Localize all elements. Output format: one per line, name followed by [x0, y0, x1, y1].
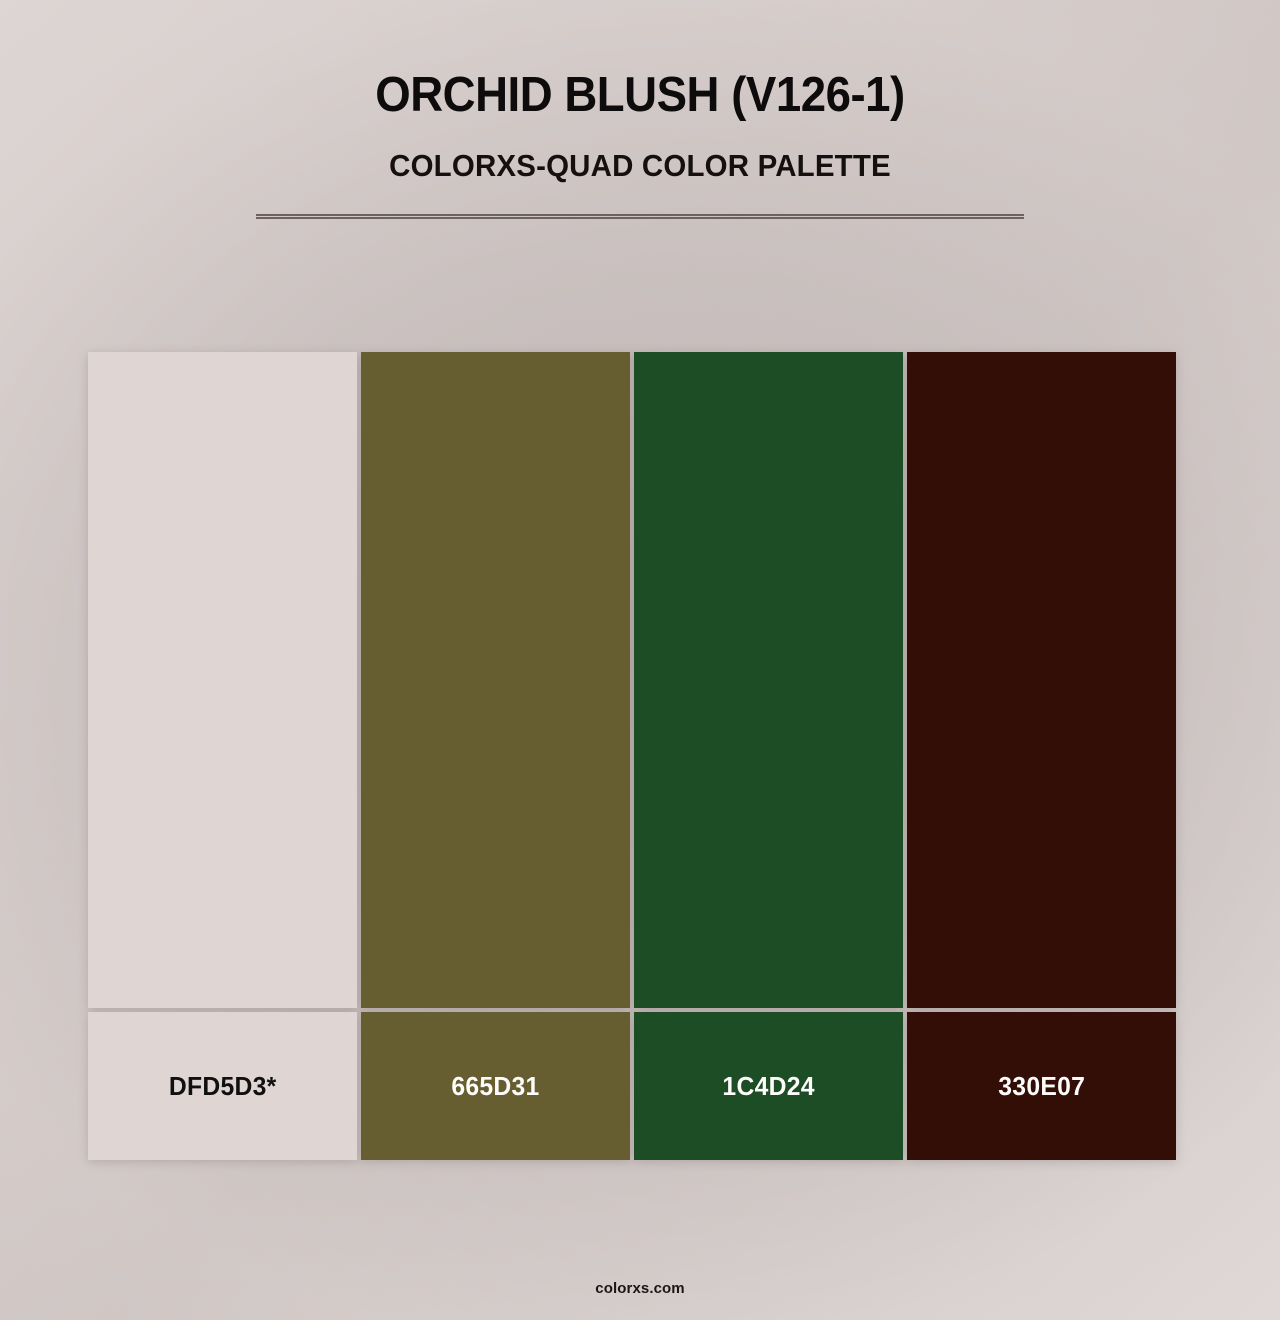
swatch-color-row — [88, 352, 1176, 1008]
hex-code-label: 665D31 — [451, 1071, 539, 1102]
swatch-330e07[interactable] — [907, 352, 1176, 1008]
hex-code-label: 1C4D24 — [722, 1071, 814, 1102]
swatch-label-330e07[interactable]: 330E07 — [907, 1012, 1176, 1160]
hex-code-label: DFD5D3* — [169, 1071, 277, 1102]
color-palette: DFD5D3* 665D31 1C4D24 330E07 — [88, 352, 1176, 1160]
page-subtitle: COLORXS-QUAD COLOR PALETTE — [32, 150, 1248, 183]
swatch-1c4d24[interactable] — [634, 352, 903, 1008]
page-header: ORCHID BLUSH (V126-1) COLORXS-QUAD COLOR… — [0, 0, 1280, 219]
page-title: ORCHID BLUSH (V126-1) — [45, 70, 1235, 121]
swatch-label-dfd5d3[interactable]: DFD5D3* — [88, 1012, 357, 1160]
hex-code-label: 330E07 — [998, 1071, 1085, 1102]
swatch-665d31[interactable] — [361, 352, 630, 1008]
swatch-label-665d31[interactable]: 665D31 — [361, 1012, 630, 1160]
swatch-label-row: DFD5D3* 665D31 1C4D24 330E07 — [88, 1012, 1176, 1160]
swatch-label-1c4d24[interactable]: 1C4D24 — [634, 1012, 903, 1160]
swatch-dfd5d3[interactable] — [88, 352, 357, 1008]
header-divider — [256, 214, 1024, 219]
footer-site-label: colorxs.com — [0, 1280, 1280, 1297]
